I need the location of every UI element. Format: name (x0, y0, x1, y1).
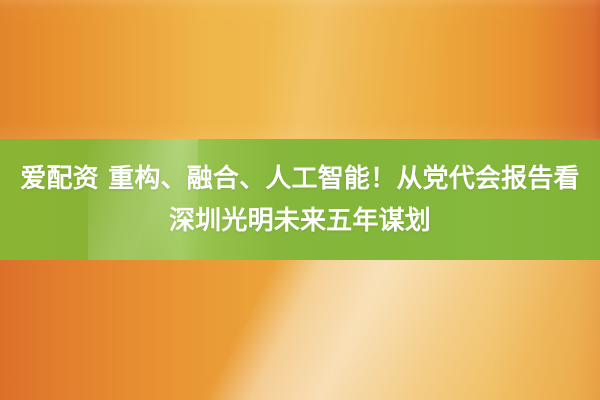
headline-line-1: 爱配资 重构、融合、人工智能！从党代会报告看 (20, 158, 579, 200)
orange-band-bottom-highlight-wash (0, 260, 600, 400)
promo-banner: 爱配资 重构、融合、人工智能！从党代会报告看 深圳光明未来五年谋划 (0, 0, 600, 400)
headline: 爱配资 重构、融合、人工智能！从党代会报告看 深圳光明未来五年谋划 (0, 139, 600, 260)
orange-band-top-sheen (0, 0, 600, 139)
headline-line-2: 深圳光明未来五年谋划 (169, 200, 431, 242)
